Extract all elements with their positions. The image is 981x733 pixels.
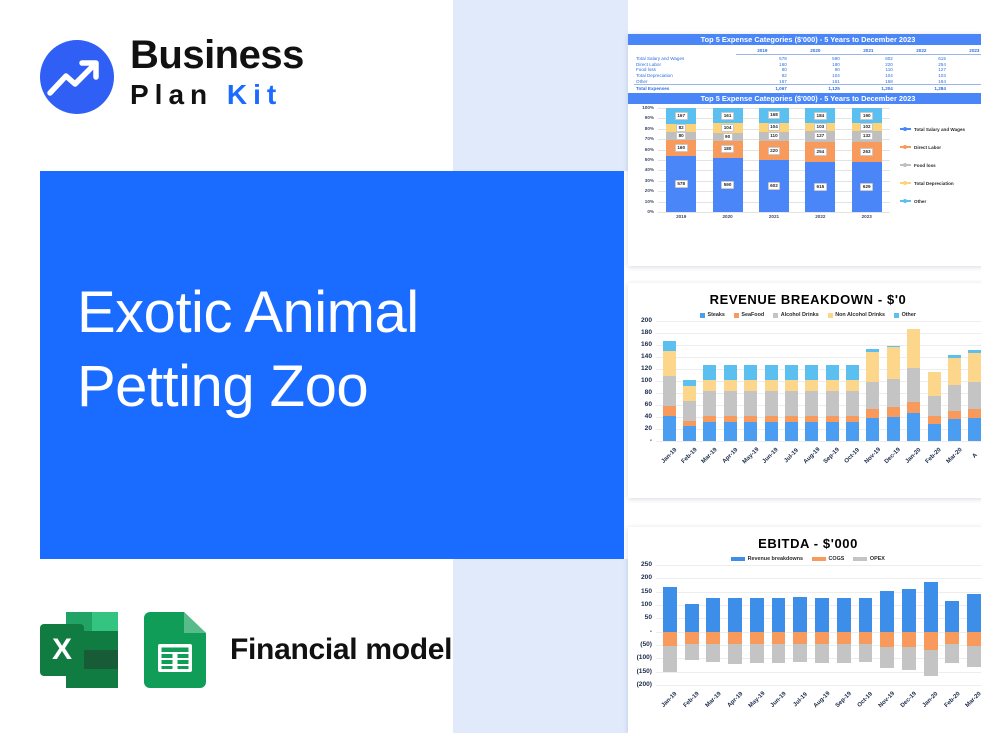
bar-value-label: 127 (814, 132, 827, 140)
legend-color-swatch (812, 557, 826, 561)
bar-value-label: 578 (675, 180, 688, 188)
y-tick-label: 200 (641, 317, 652, 324)
x-tick-label: Feb-19 (679, 444, 699, 462)
bar-value-label: 168 (768, 111, 781, 119)
bar-value-label: 629 (860, 183, 873, 191)
brand-word-plan: Plan (130, 79, 213, 110)
legend-color-swatch (773, 313, 778, 318)
bar-value-label: 184 (814, 112, 827, 120)
bar-segment (968, 409, 981, 418)
bar-segment (663, 587, 677, 631)
bar-segment (744, 391, 757, 416)
bar-column (700, 321, 720, 441)
legend-color-swatch (731, 557, 745, 561)
x-tick-label: May-19 (746, 688, 768, 706)
legend-item: Other (894, 312, 916, 318)
bar-segment (703, 391, 716, 416)
y-tick-label: 60 (645, 401, 652, 408)
x-axis-labels: Jan-19Feb-19Mar-19Apr-19May-19Jun-19Jul-… (656, 444, 981, 462)
pct-bars: 1678280160578161104901805901681041102206… (658, 108, 890, 212)
bar-segment (967, 632, 981, 646)
bar-segment (683, 426, 696, 441)
legend-label: Other (914, 199, 926, 204)
legend-color-swatch (900, 200, 911, 202)
bar-segment (663, 416, 676, 441)
bar-column (863, 321, 883, 441)
bar-segment (866, 409, 879, 419)
bar-segment (815, 632, 829, 645)
bar-column (898, 565, 920, 685)
bar-segment (859, 632, 873, 645)
bar-2021: 168104110220602 (759, 108, 789, 212)
bar-segment (826, 416, 839, 422)
bar-value-label: 615 (814, 183, 827, 191)
bar-column (855, 565, 877, 685)
bar-column (781, 321, 801, 441)
bar-segment (928, 372, 941, 396)
y-tick-label: - (650, 437, 652, 444)
microsoft-excel-icon: X (40, 612, 118, 688)
bar-segment (724, 365, 737, 381)
bar-column (768, 565, 790, 685)
legend-item: Non Alcohol Drinks (828, 312, 885, 318)
bar-value-label: 110 (768, 132, 780, 140)
bar-segment (866, 382, 879, 409)
bar-segment (663, 646, 677, 673)
x-tick-label: Apr-19 (724, 688, 746, 706)
bar-segment (968, 350, 981, 352)
bar-segment (846, 380, 859, 391)
legend-label: Steaks (708, 312, 725, 318)
bar-segment (924, 582, 938, 632)
bar-segment (880, 632, 894, 647)
x-tick-label: May-19 (741, 444, 761, 462)
bar-column (724, 565, 746, 685)
bar-segment (706, 598, 720, 632)
bar-segment (924, 650, 938, 676)
bar-column (822, 321, 842, 441)
ebitda-chart-legend: Revenue breakdownsCOGSOPEX (628, 556, 981, 562)
bar-value-label: 263 (860, 148, 873, 156)
bar-segment (902, 589, 916, 631)
bar-segment (785, 422, 798, 441)
bar-segment (805, 380, 818, 391)
bar-segment (772, 598, 786, 632)
chart-card-expense-categories[interactable]: Top 5 Expense Categories ($'000) - 5 Yea… (628, 34, 981, 266)
y-tick-label: 20 (645, 425, 652, 432)
bar-column (681, 565, 703, 685)
uptrend-arrow-circle-icon (38, 38, 116, 116)
bar-segment (887, 417, 900, 441)
bar-segment (793, 632, 807, 645)
legend-item: Alcohol Drinks (773, 312, 819, 318)
bar-segment (907, 368, 920, 402)
bar-segment (859, 598, 873, 632)
bar-segment (663, 406, 676, 416)
x-tick-label: Nov-19 (863, 444, 883, 462)
bar-segment (703, 365, 716, 381)
bar-segment (703, 416, 716, 422)
pct-x-labels: 20192020202120222023 (658, 214, 890, 219)
x-tick-label: Oct-19 (855, 688, 877, 706)
bar-segment (887, 379, 900, 407)
legend-label: Direct Labor (914, 145, 941, 150)
bar-segment (805, 365, 818, 381)
bar-value-label: 102 (860, 123, 873, 131)
bar-segment (826, 365, 839, 381)
x-tick-label: Aug-19 (802, 444, 822, 462)
bar-segment (703, 380, 716, 391)
bar-segment (859, 644, 873, 661)
bar-value-label: 160 (675, 144, 688, 152)
bar-segment (685, 604, 699, 631)
bar-segment (793, 644, 807, 661)
x-tick-label: Mar-19 (702, 688, 724, 706)
legend-color-swatch (894, 313, 899, 318)
bar-segment (785, 416, 798, 422)
y-tick-label: 180 (641, 329, 652, 336)
bar-segment (683, 386, 696, 402)
x-tick-label: Mar-20 (944, 444, 964, 462)
bar-segment (744, 365, 757, 381)
bar-segment (948, 358, 961, 386)
bar-segment (815, 598, 829, 632)
bar-segment (663, 376, 676, 406)
legend-item: COGS (812, 556, 844, 562)
bar-segment (846, 391, 859, 416)
legend-item: Direct Labor (900, 138, 981, 156)
expense-stacked-chart: 0%10%20%30%40%50%60%70%80%90%100%1678280… (628, 104, 981, 234)
bar-group (656, 321, 981, 441)
legend-item: SeaFood (734, 312, 764, 318)
bar-value-label: 180 (721, 145, 734, 153)
bar-segment (887, 346, 900, 347)
format-badge-label: Financial model (230, 633, 452, 667)
legend-item: OPEX (853, 556, 884, 562)
bar-segment (724, 391, 737, 416)
bar-value-label: 80 (676, 132, 686, 140)
bar-segment (826, 380, 839, 391)
bar-value-label: 190 (860, 112, 873, 120)
brand-line-plankit: Plan Kit (130, 78, 304, 112)
bar-segment (837, 598, 851, 632)
bar-value-label: 104 (721, 124, 734, 132)
legend-color-swatch (900, 182, 911, 184)
bar-segment (805, 422, 818, 441)
bar-value-label: 132 (860, 132, 873, 140)
legend-label: Total Depreciation (914, 181, 954, 186)
bar-value-label: 220 (768, 147, 781, 155)
bar-segment (928, 424, 941, 441)
gridline (656, 685, 981, 686)
bar-value-label: 254 (814, 148, 827, 156)
y-tick-label: 200 (641, 574, 652, 581)
bar-segment (685, 644, 699, 659)
bar-segment (924, 632, 938, 651)
bar-segment (772, 632, 786, 645)
bar-segment (728, 644, 742, 664)
y-axis: 25020015010050-(50)(100)(150)(200) (628, 565, 654, 685)
y-tick-label: 140 (641, 353, 652, 360)
bar-column (789, 565, 811, 685)
page-title-line2: Petting Zoo (77, 350, 597, 424)
legend-color-swatch (853, 557, 867, 561)
bar-value-label: 590 (721, 181, 734, 189)
x-tick-label: Feb-20 (942, 688, 964, 706)
legend-label: Other (902, 312, 916, 318)
legend-label: SeaFood (741, 312, 764, 318)
bar-segment (663, 632, 677, 646)
bar-segment (805, 391, 818, 416)
bar-segment (948, 419, 961, 441)
bar-segment (685, 632, 699, 645)
bar-column (944, 321, 964, 441)
y-tick-label: 160 (641, 341, 652, 348)
x-tick-label: Dec-19 (883, 444, 903, 462)
bar-segment (948, 355, 961, 357)
bar-column (920, 565, 942, 685)
bar-segment (826, 391, 839, 416)
bar-segment (902, 647, 916, 669)
y-tick-label: 150 (641, 588, 652, 595)
bar-segment (724, 416, 737, 422)
bar-segment (750, 632, 764, 645)
y-tick-label: (200) (637, 681, 652, 688)
x-tick-label: Jul-19 (781, 444, 801, 462)
bar-segment (866, 352, 879, 382)
bar-segment (846, 416, 859, 422)
bar-column (924, 321, 944, 441)
bar-column (679, 321, 699, 441)
bar-column (702, 565, 724, 685)
bar-segment (683, 380, 696, 386)
bar-segment (928, 396, 941, 416)
legend-color-swatch (700, 313, 705, 318)
bar-column (883, 321, 903, 441)
bar-segment (765, 365, 778, 381)
bar-value-label: 104 (768, 123, 781, 131)
bar-segment (703, 422, 716, 441)
bar-segment (887, 347, 900, 379)
expense-chart-title: Top 5 Expense Categories ($'000) - 5 Yea… (628, 93, 981, 104)
y-tick-label: 120 (641, 365, 652, 372)
x-tick-label: Mar-19 (700, 444, 720, 462)
y-axis: 20018016014012010080604020- (628, 321, 654, 441)
legend-label: COGS (829, 556, 845, 562)
bar-segment (907, 413, 920, 441)
bar-segment (826, 422, 839, 441)
chart-card-revenue-breakdown[interactable]: REVENUE BREAKDOWN - $'0 SteaksSeaFoodAlc… (628, 283, 981, 498)
ebitda-chart-plot: 25020015010050-(50)(100)(150)(200)Jan-19… (628, 565, 981, 685)
bar-segment (880, 647, 894, 669)
legend-item: Total Salary and Wages (900, 120, 981, 138)
bar-segment (968, 418, 981, 441)
bar-segment (846, 365, 859, 381)
bar-segment (837, 632, 851, 645)
ebitda-chart-title: EBITDA - $'000 (628, 536, 981, 551)
x-tick-label: A (965, 444, 981, 462)
x-tick-label: Jan-19 (659, 444, 679, 462)
revenue-chart-plot: 20018016014012010080604020-Jan-19Feb-19M… (628, 321, 981, 441)
bar-column (842, 321, 862, 441)
bar-segment (837, 644, 851, 663)
x-tick-label: Jan-20 (920, 688, 942, 706)
x-tick-label: Apr-19 (720, 444, 740, 462)
bar-2019: 1678280160578 (666, 108, 696, 212)
y-tick-label: 100 (641, 377, 652, 384)
x-tick-label: Jul-19 (789, 688, 811, 706)
bar-column (741, 321, 761, 441)
bar-segment (765, 391, 778, 416)
bar-segment (815, 644, 829, 662)
legend-item: Steaks (700, 312, 725, 318)
bar-value-label: 167 (675, 112, 688, 120)
hero-banner: Exotic Animal Petting Zoo (40, 171, 624, 559)
legend-item: Food loss (900, 156, 981, 174)
bar-segment (793, 597, 807, 632)
x-tick-label: Dec-19 (898, 688, 920, 706)
bar-segment (928, 416, 941, 423)
y-tick-label: 250 (641, 561, 652, 568)
brand-wordmark: Business Plan Kit (130, 34, 304, 112)
bar-column (833, 565, 855, 685)
x-tick-label: Oct-19 (842, 444, 862, 462)
bar-segment (907, 329, 920, 369)
bar-value-label: 161 (721, 112, 734, 120)
bar-segment (967, 646, 981, 667)
bar-segment (785, 365, 798, 381)
bar-segment (948, 385, 961, 411)
y-tick-label: 40 (645, 413, 652, 420)
bar-segment (744, 380, 757, 391)
bar-segment (744, 422, 757, 441)
bar-value-label: 103 (814, 123, 827, 131)
bar-column (963, 565, 981, 685)
bar-segment (663, 351, 676, 376)
format-badges: X Financial model (40, 612, 452, 688)
bar-value-label: 82 (676, 124, 686, 132)
brand-logo: Business Plan Kit (38, 36, 398, 120)
bar-2023: 190102132263629 (852, 108, 882, 212)
bar-column (659, 565, 681, 685)
bar-column (746, 565, 768, 685)
gridline (656, 441, 981, 442)
bar-segment (785, 391, 798, 416)
bar-column (904, 321, 924, 441)
bar-segment (945, 601, 959, 631)
bar-column (720, 321, 740, 441)
bar-value-label: 602 (768, 182, 781, 190)
bar-2022: 184103127254615 (805, 108, 835, 212)
bar-segment (805, 416, 818, 422)
slide-canvas: Business Plan Kit Exotic Animal Petting … (0, 0, 981, 733)
google-sheets-icon (144, 612, 206, 688)
bar-segment (750, 644, 764, 663)
brand-word-kit: Kit (227, 79, 282, 110)
bar-segment (968, 382, 981, 410)
bar-segment (683, 401, 696, 421)
legend-label: OPEX (870, 556, 885, 562)
bar-segment (724, 380, 737, 391)
expense-table-title: Top 5 Expense Categories ($'000) - 5 Yea… (628, 34, 981, 45)
revenue-chart-legend: SteaksSeaFoodAlcohol DrinksNon Alcohol D… (628, 312, 981, 318)
bar-segment (866, 349, 879, 351)
page-title-line1: Exotic Animal (77, 276, 597, 350)
legend-color-swatch (900, 128, 911, 130)
legend-color-swatch (900, 146, 911, 148)
bar-segment (887, 407, 900, 417)
x-tick-label: Aug-19 (811, 688, 833, 706)
x-tick-label: Sep-19 (822, 444, 842, 462)
y-tick-label: (50) (640, 641, 652, 648)
x-tick-label: Sep-19 (833, 688, 855, 706)
bar-segment (765, 422, 778, 441)
bar-value-label: 90 (723, 133, 733, 141)
bar-segment (744, 416, 757, 422)
expense-table-wrap: 20192020202120222023Total Salary and Wag… (628, 45, 981, 93)
legend-color-swatch (828, 313, 833, 318)
bar-segment (706, 632, 720, 645)
bar-segment (765, 380, 778, 391)
x-tick-label: Feb-20 (924, 444, 944, 462)
bar-segment (765, 416, 778, 422)
legend-label: Total Salary and Wages (914, 127, 965, 132)
bar-segment (724, 422, 737, 441)
legend-label: Alcohol Drinks (781, 312, 819, 318)
bar-segment (880, 591, 894, 632)
bar-column (876, 565, 898, 685)
bar-column (802, 321, 822, 441)
bar-segment (945, 632, 959, 644)
bar-segment (902, 632, 916, 647)
legend-label: Revenue breakdowns (748, 556, 803, 562)
pct-legend: Total Salary and WagesDirect LaborFood l… (900, 120, 981, 210)
brand-line-business: Business (130, 34, 304, 76)
bar-segment (785, 380, 798, 391)
y-tick-label: (100) (637, 654, 652, 661)
bar-segment (750, 598, 764, 632)
x-tick-label: Mar-20 (963, 688, 981, 706)
x-tick-label: Jan-20 (904, 444, 924, 462)
page-title: Exotic Animal Petting Zoo (77, 276, 597, 424)
legend-item: Other (900, 192, 981, 210)
bar-segment (968, 353, 981, 382)
bar-segment (728, 632, 742, 645)
chart-card-ebitda[interactable]: EBITDA - $'000 Revenue breakdownsCOGSOPE… (628, 527, 981, 733)
y-tick-label: (150) (637, 668, 652, 675)
legend-label: Non Alcohol Drinks (835, 312, 885, 318)
bar-segment (683, 421, 696, 426)
x-tick-label: Feb-19 (681, 688, 703, 706)
bar-segment (907, 402, 920, 413)
bar-2020: 16110490180590 (713, 108, 743, 212)
bar-segment (772, 644, 786, 663)
y-tick-label: 50 (645, 614, 652, 621)
bar-column (761, 321, 781, 441)
revenue-chart-title: REVENUE BREAKDOWN - $'0 (628, 292, 981, 307)
bar-segment (706, 644, 720, 662)
bar-segment (846, 422, 859, 441)
x-tick-label: Jun-19 (768, 688, 790, 706)
bar-segment (663, 341, 676, 351)
legend-color-swatch (900, 164, 911, 166)
x-tick-label: Jan-19 (659, 688, 681, 706)
bar-group (656, 565, 981, 685)
y-tick-label: - (650, 628, 652, 635)
legend-item: Total Depreciation (900, 174, 981, 192)
y-tick-label: 100 (641, 601, 652, 608)
x-tick-label: Jun-19 (761, 444, 781, 462)
